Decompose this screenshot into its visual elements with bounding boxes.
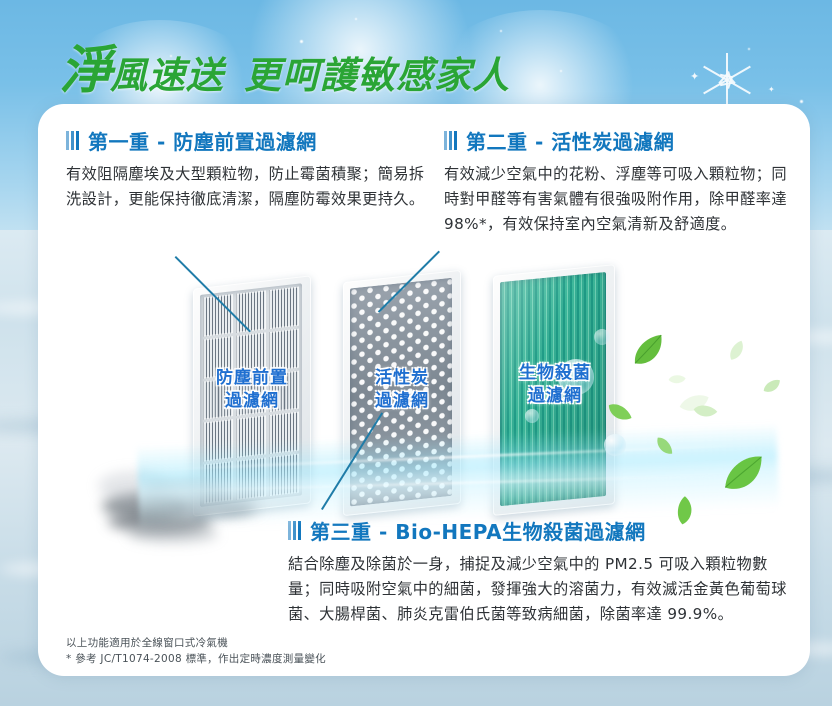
section-heading: 第二重 - 活性炭過濾網 bbox=[444, 126, 796, 155]
sparkle bbox=[355, 18, 357, 20]
leaf-icon bbox=[627, 332, 672, 370]
sparkle bbox=[560, 70, 562, 72]
section-third-filter: 第三重 - Bio-HEPA生物殺菌過濾網 結合除塵及除菌於一身，捕捉及減少空氣… bbox=[288, 516, 798, 627]
infographic-root: ✦ ✦ 淨風速送更呵護敏感家人 第一重 - 防塵前置過濾網 有效阻隔塵埃及大型顆… bbox=[0, 0, 832, 706]
section-heading: 第三重 - Bio-HEPA生物殺菌過濾網 bbox=[288, 516, 798, 545]
leaf-icon bbox=[667, 372, 687, 387]
leaf-icon bbox=[761, 378, 783, 395]
title-rest: 風速送 bbox=[110, 54, 224, 97]
leaf-icon bbox=[717, 453, 770, 496]
section-title: 第三重 - Bio-HEPA生物殺菌過濾網 bbox=[310, 516, 646, 545]
filter-panel-activated-carbon bbox=[343, 270, 461, 516]
section-heading: 第一重 - 防塵前置過濾網 bbox=[66, 126, 438, 155]
leaf-icon bbox=[678, 393, 710, 415]
page-title: 淨風速送更呵護敏感家人 bbox=[60, 28, 510, 103]
section-title: 第一重 - 防塵前置過濾網 bbox=[88, 126, 317, 155]
section-title: 第二重 - 活性炭過濾網 bbox=[466, 126, 674, 155]
bars-icon bbox=[66, 131, 81, 150]
sparkle bbox=[800, 100, 803, 103]
filter-mesh-honeycomb bbox=[350, 278, 452, 507]
section-body: 結合除塵及除菌於一身，捕捉及減少空氣中的 PM2.5 可吸入顆粒物數量；同時吸附… bbox=[288, 552, 798, 627]
section-first-filter: 第一重 - 防塵前置過濾網 有效阻隔塵埃及大型顆粒物，防止霉菌積聚；簡易拆洗設計… bbox=[66, 126, 438, 212]
filter-panel-bio-hepa bbox=[493, 264, 615, 516]
footnote-line-1: 以上功能適用於全線窗口式冷氣機 bbox=[66, 635, 326, 651]
leaf-icon bbox=[654, 433, 675, 458]
footnotes: 以上功能適用於全線窗口式冷氣機 * 參考 JC/T1074-2008 標準，作出… bbox=[66, 635, 326, 667]
snowflake-icon bbox=[700, 53, 754, 107]
section-body: 有效減少空氣中的花粉、浮塵等可吸入顆粒物；同時對甲醛等有害氣體有很強吸附作用，除… bbox=[444, 162, 796, 237]
title-tail: 更呵護敏感家人 bbox=[244, 54, 510, 97]
title-lead: 淨 bbox=[60, 41, 110, 101]
section-body: 有效阻隔塵埃及大型顆粒物，防止霉菌積聚；簡易拆洗設計，更能保持徹底清潔，隔塵防霉… bbox=[66, 162, 438, 212]
filter-mesh-pleated bbox=[500, 272, 606, 506]
leaf-icon bbox=[724, 339, 750, 364]
footnote-line-2: * 參考 JC/T1074-2008 標準，作出定時濃度測量變化 bbox=[66, 651, 326, 667]
sparkle-star: ✦ bbox=[690, 72, 699, 83]
content-card: 第一重 - 防塵前置過濾網 有效阻隔塵埃及大型顆粒物，防止霉菌積聚；簡易拆洗設計… bbox=[38, 104, 810, 676]
bars-icon bbox=[444, 131, 459, 150]
bars-icon bbox=[288, 521, 303, 540]
sparkle-star: ✦ bbox=[768, 84, 775, 95]
sparkle bbox=[748, 48, 750, 50]
section-second-filter: 第二重 - 活性炭過濾網 有效減少空氣中的花粉、浮塵等可吸入顆粒物；同時對甲醛等… bbox=[444, 126, 796, 237]
smoke-graphic bbox=[98, 459, 258, 559]
